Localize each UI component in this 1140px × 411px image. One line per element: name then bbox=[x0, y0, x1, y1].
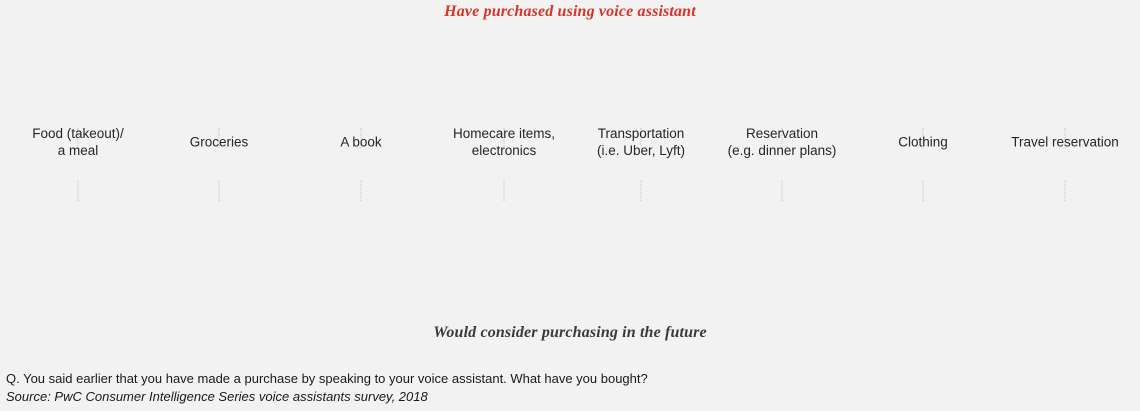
chart-container: Have purchased using voice assistant Foo… bbox=[0, 0, 1140, 411]
axis-tick-dotted-lower bbox=[641, 180, 642, 201]
plot-area: Food (takeout)/ a mealGroceriesA bookHom… bbox=[0, 30, 1140, 318]
axis-category-label: Travel reservation bbox=[965, 134, 1140, 151]
axis-tick-dotted-lower bbox=[78, 180, 79, 201]
axis-tick-dotted-lower bbox=[923, 180, 924, 201]
chart-title-lower: Would consider purchasing in the future bbox=[0, 324, 1140, 342]
footnote-source: Source: PwC Consumer Intelligence Series… bbox=[6, 388, 1106, 406]
axis-tick-dotted-lower bbox=[361, 180, 362, 201]
axis-tick-dotted-lower bbox=[504, 180, 505, 201]
chart-title-upper: Have purchased using voice assistant bbox=[0, 3, 1140, 21]
axis-tick-dotted-lower bbox=[1065, 180, 1066, 201]
axis-tick-dotted-lower bbox=[782, 180, 783, 201]
axis-tick-dotted-lower bbox=[219, 180, 220, 201]
footnote-question: Q. You said earlier that you have made a… bbox=[6, 370, 1106, 388]
footnote-block: Q. You said earlier that you have made a… bbox=[6, 370, 1106, 405]
